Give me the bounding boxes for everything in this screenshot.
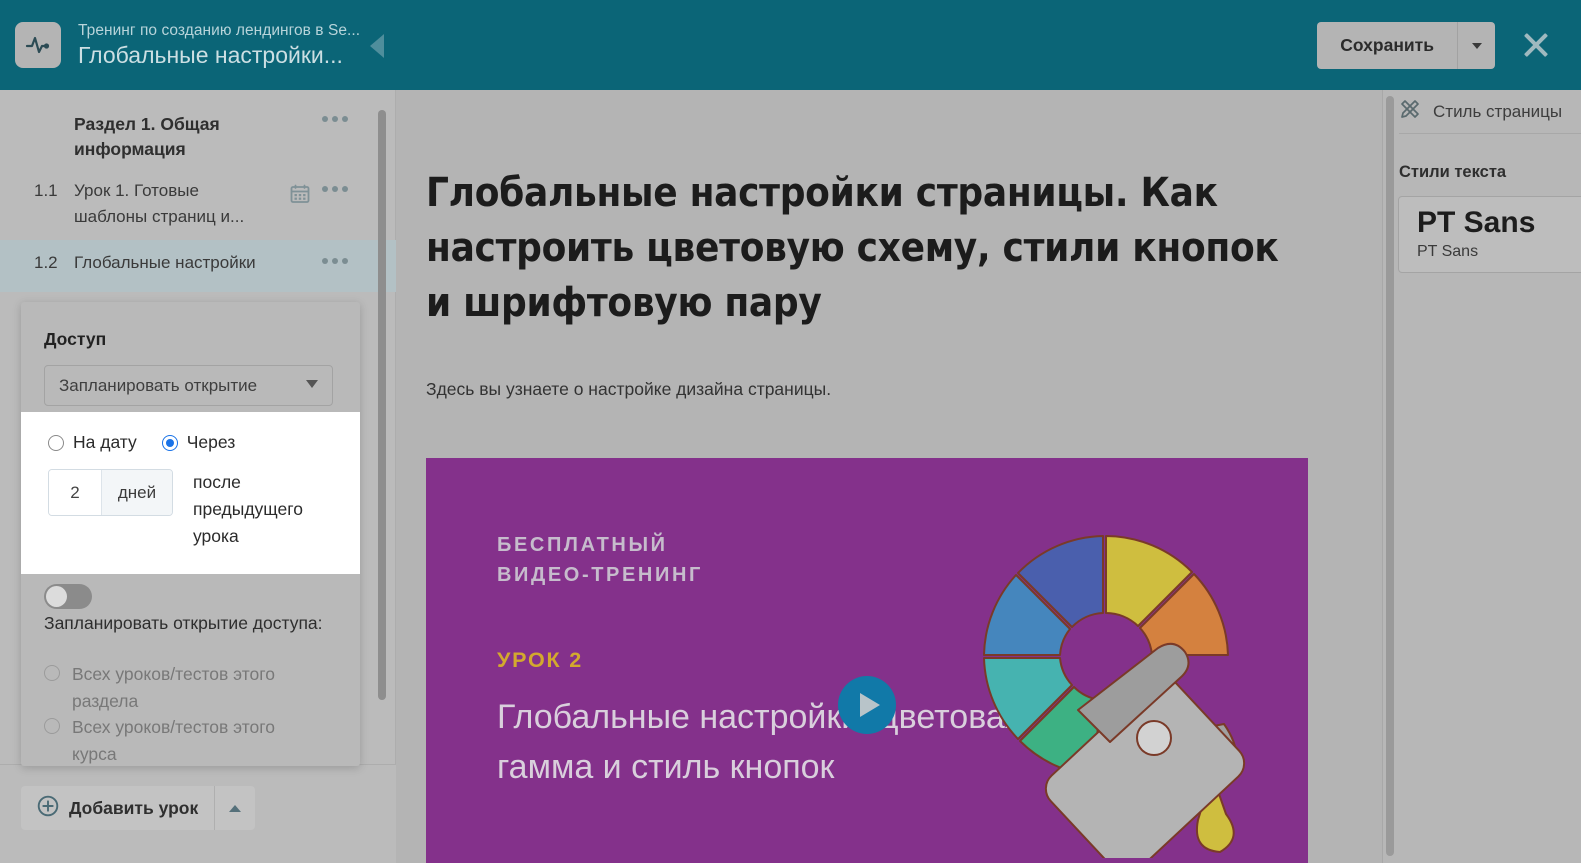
lesson-number: 1.1 [34,178,74,230]
chevron-down-icon [306,380,318,388]
scope-option-course[interactable]: Всех уроков/тестов этого курса [21,714,312,768]
radio-scope-section[interactable] [44,665,60,681]
sidebar-section-header[interactable]: Раздел 1. Общая информация [0,90,396,168]
access-settings-popup: Доступ Запланировать открытие На дату Че… [21,302,360,766]
lesson-title: Урок 1. Готовые шаблоны страниц и... [74,178,269,230]
video-thumbnail[interactable]: БЕСПЛАТНЫЙ ВИДЕО-ТРЕНИНГ УРОК 2 Глобальн… [426,458,1308,863]
access-label: Доступ [44,329,106,350]
font-name: PT Sans [1417,241,1581,263]
style-panel-scrollbar[interactable] [1386,96,1394,856]
chevron-up-icon [229,805,241,812]
lesson-number: 1.2 [34,250,74,282]
delay-note: после предыдущего урока [193,469,323,550]
radio-scope-section-label: Всех уроков/тестов этого раздела [72,661,312,715]
delay-stepper: дней [48,469,173,516]
sidebar-item-lesson-1-2[interactable]: 1.2 Глобальные настройки [0,240,396,292]
color-wheel-icon [926,488,1286,858]
font-style-card[interactable]: PT Sans PT Sans [1398,196,1581,273]
video-kicker: БЕСПЛАТНЫЙ ВИДЕО-ТРЕНИНГ [497,530,703,590]
title-block: Тренинг по созданию лендингов в Se... Гл… [78,21,360,70]
sidebar-scrollbar[interactable] [378,110,386,700]
access-mode-value: Запланировать открытие [59,376,257,396]
style-panel-header[interactable]: Стиль страницы [1399,90,1581,134]
radio-scope-course[interactable] [44,718,60,734]
calendar-icon[interactable] [290,184,310,209]
document-title: Глобальные настройки страницы. Как настр… [426,166,1286,331]
add-lesson-dropdown-button[interactable] [214,786,255,830]
sidebar-section-title: Раздел 1. Общая информация [74,112,274,162]
sidebar-footer: Добавить урок [0,764,396,863]
chevron-down-icon [1472,43,1482,49]
schedule-access-toggle[interactable] [44,584,92,609]
video-lesson-label: УРОК 2 [497,648,583,673]
schedule-access-toggle-label: Запланировать открытие доступа: [44,609,344,637]
top-bar-left: Тренинг по созданию лендингов в Se... Гл… [0,0,396,90]
course-name: Тренинг по созданию лендингов в Se... [78,21,360,41]
delay-unit-label: дней [101,470,172,515]
document-subtitle: Здесь вы узнаете о настройке дизайна стр… [426,377,1382,401]
play-icon[interactable] [838,676,896,734]
top-bar: Тренинг по созданию лендингов в Se... Гл… [0,0,1581,90]
schedule-toggle-row: Запланировать открытие доступа: [44,582,344,637]
main-content: Глобальные настройки страницы. Как настр… [397,90,1382,863]
schedule-detail-panel: На дату Через дней после предыдущего уро… [21,412,360,574]
style-panel-title: Стиль страницы [1433,102,1562,122]
scope-option-section[interactable]: Всех уроков/тестов этого раздела [21,661,312,715]
save-button[interactable]: Сохранить [1317,22,1457,69]
radio-on-date[interactable] [48,435,64,451]
radio-after-label[interactable]: Через [187,432,236,453]
sidebar-item-lesson-1-1[interactable]: 1.1 Урок 1. Готовые шаблоны страниц и... [0,168,396,240]
add-lesson-group: Добавить урок [21,786,255,830]
save-dropdown-button[interactable] [1457,22,1495,69]
ellipsis-icon[interactable] [322,258,348,264]
ellipsis-icon[interactable] [322,116,348,122]
save-button-group: Сохранить [1317,22,1495,69]
collapse-left-icon[interactable] [370,34,384,58]
add-lesson-button[interactable]: Добавить урок [21,786,214,830]
style-panel: Стиль страницы Стили текста PT Sans PT S… [1382,90,1581,863]
access-mode-select[interactable]: Запланировать открытие [44,365,333,406]
radio-after[interactable] [162,435,178,451]
delay-input[interactable] [49,470,101,515]
text-styles-heading: Стили текста [1399,163,1506,182]
pulse-icon [15,22,61,68]
schedule-mode-radio-group: На дату Через [21,412,360,453]
lesson-title: Глобальные настройки [74,250,269,282]
page-title: Глобальные настройки... [78,40,360,70]
pencil-ruler-icon [1399,98,1421,125]
ellipsis-icon[interactable] [322,186,348,192]
delay-row: дней после предыдущего урока [21,453,360,550]
font-display-name: PT Sans [1417,205,1581,241]
close-icon[interactable] [1519,28,1553,62]
add-lesson-label: Добавить урок [69,798,198,819]
radio-on-date-label[interactable]: На дату [73,432,137,453]
plus-circle-icon [37,795,59,822]
radio-scope-course-label: Всех уроков/тестов этого курса [72,714,312,768]
